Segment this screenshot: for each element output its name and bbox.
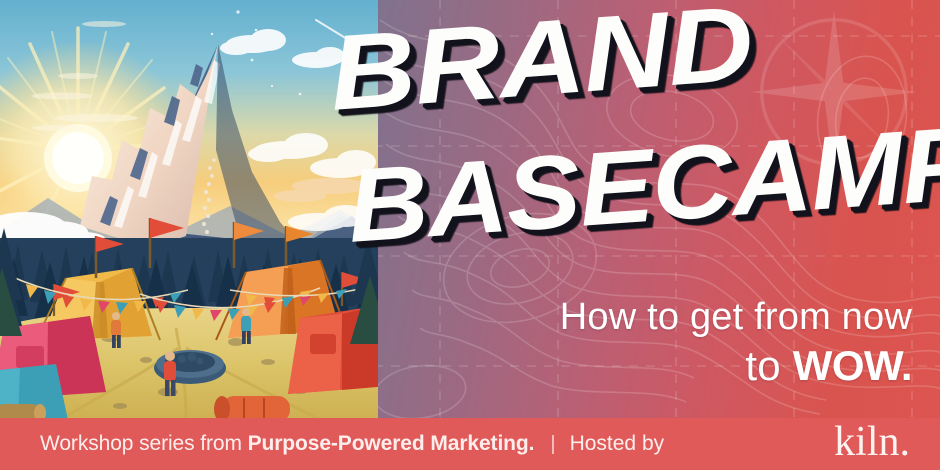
event-banner: BRAND BASECAMP How to get from now to WO…: [0, 0, 940, 470]
footer-lead-strong: Purpose-Powered Marketing.: [248, 432, 535, 455]
subtitle-line-2-plain: to: [745, 342, 792, 389]
headline-block: BRAND BASECAMP How to get from now to WO…: [0, 0, 940, 420]
footer-lead-plain: Workshop series from: [40, 432, 248, 455]
subtitle-line-1: How to get from now: [560, 296, 912, 339]
footer-bar: Workshop series from Purpose-Powered Mar…: [0, 418, 940, 470]
kiln-logo: kiln.: [834, 421, 914, 467]
subtitle-line-2: to WOW.: [745, 342, 912, 390]
footer-separator: |: [550, 433, 555, 456]
subtitle-line-2-strong: WOW.: [793, 342, 912, 389]
footer-workshop-credit: Workshop series from Purpose-Powered Mar…: [40, 432, 534, 456]
title-line-2: BASECAMP: [344, 104, 940, 267]
title-line-1: BRAND: [326, 0, 757, 135]
footer-hosted-by: Hosted by: [570, 432, 665, 456]
